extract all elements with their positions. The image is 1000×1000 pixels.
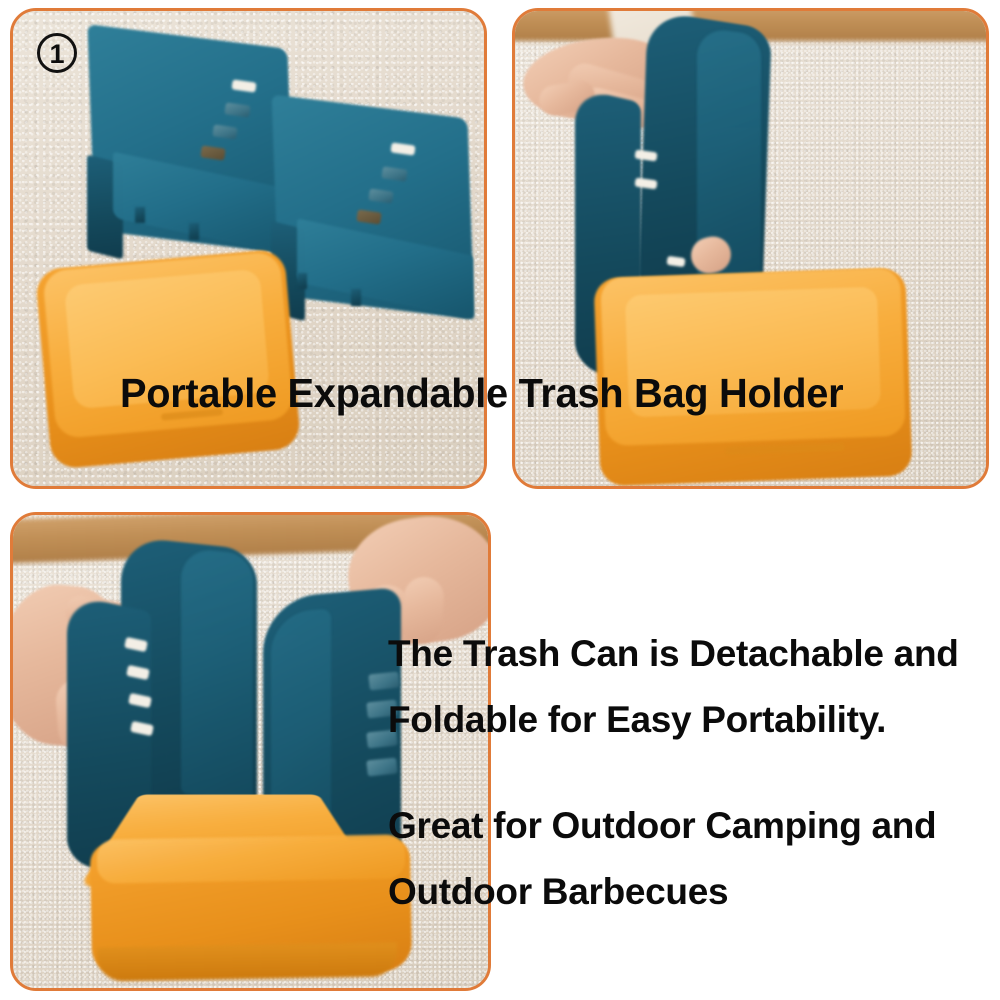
teal-panel-left-notch-1 (135, 207, 145, 223)
step-panel-3: 3 (10, 512, 491, 991)
teal-wall-right-tab-1 (368, 671, 400, 690)
teal-panel-left-notch-2 (189, 223, 199, 240)
feature-text-line-2: Foldable for Easy Portability. (388, 700, 886, 740)
feature-text-line-1: The Trash Can is Detachable and (388, 634, 959, 674)
orange-base-top-rim (97, 834, 406, 883)
step-badge-1: 1 (37, 33, 77, 73)
teal-panel-right-notch-1 (297, 273, 307, 289)
product-photo-assembly (13, 515, 488, 988)
teal-panel-right-notch-2 (351, 289, 361, 306)
feature-text-line-3: Great for Outdoor Camping and (388, 806, 936, 846)
teal-wall-back-sheen (181, 547, 253, 801)
step-panel-1: 1 (10, 8, 487, 489)
teal-wall-right-tab-4 (366, 757, 398, 776)
step-panel-2: 2 (512, 8, 989, 489)
orange-base-shadow (97, 942, 398, 981)
feature-text-line-4: Outdoor Barbecues (388, 872, 728, 912)
infographic-canvas: 1 2 (0, 0, 1000, 1000)
page-headline: Portable Expandable Trash Bag Holder (120, 371, 843, 415)
